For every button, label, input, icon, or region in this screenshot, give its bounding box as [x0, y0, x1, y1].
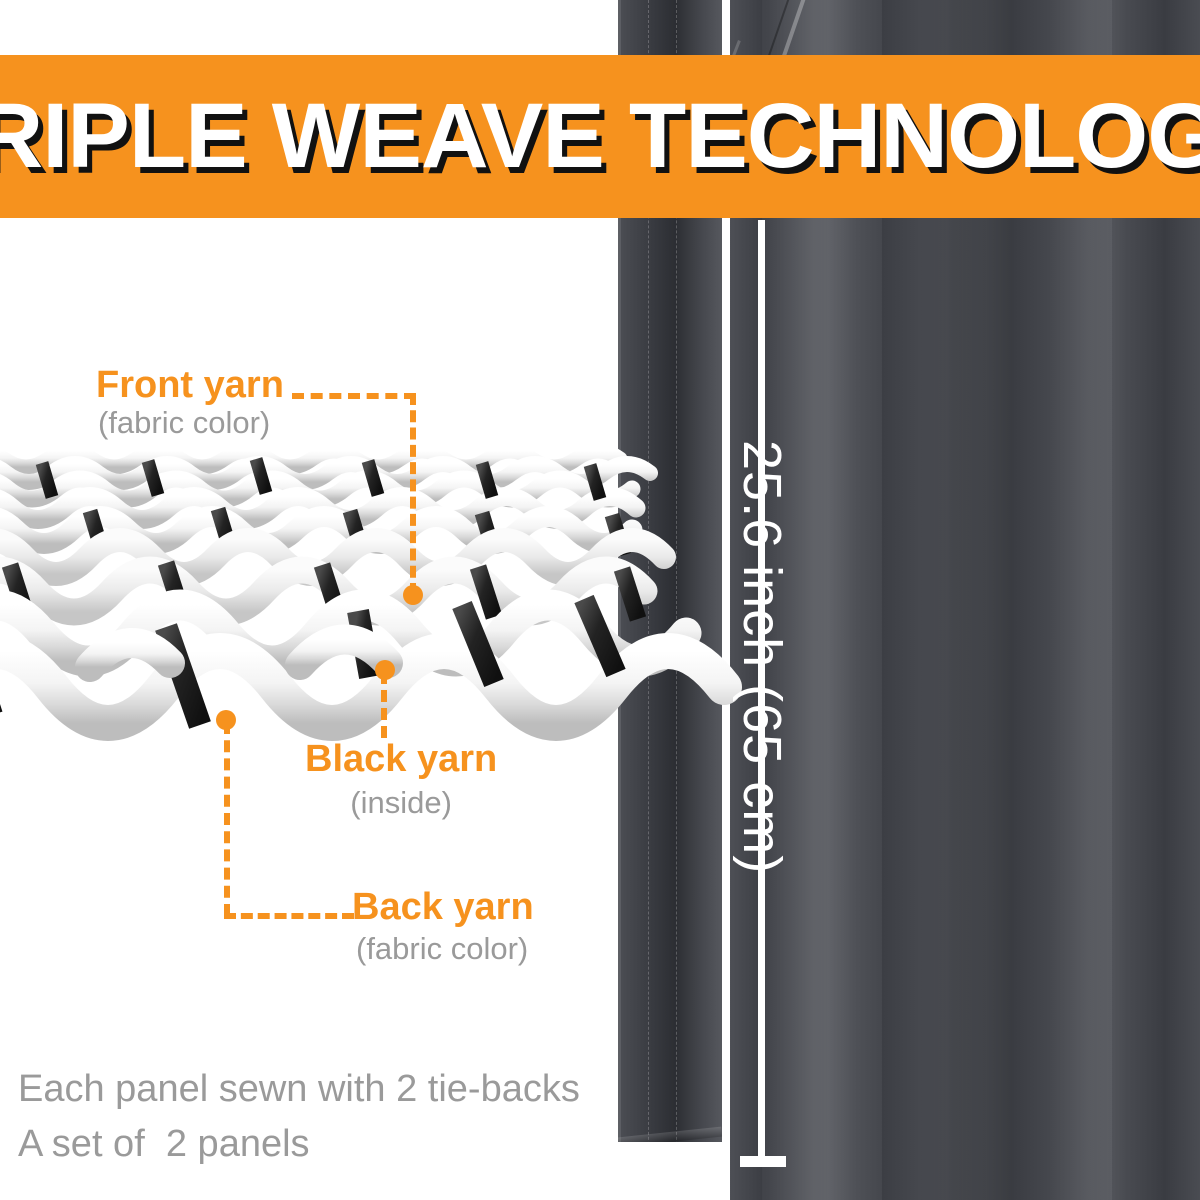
- black-yarn-leader-vertical: [381, 672, 387, 738]
- footer-notes: Each panel sewn with 2 tie-backs A set o…: [18, 1062, 658, 1172]
- callout-black-yarn-title: Black yarn: [305, 740, 497, 778]
- measurement-label: 25.6 inch (65 cm): [731, 440, 793, 874]
- back-yarn-leader-vertical: [224, 722, 230, 916]
- banner-title: TRIPLE WEAVE TECHNOLOGY: [0, 55, 1200, 218]
- callout-back-yarn: Back yarn (fabric color): [352, 888, 534, 969]
- callout-front-yarn-subtitle: (fabric color): [98, 404, 284, 443]
- black-yarn-dot-marker: [375, 660, 395, 680]
- callout-front-yarn-title: Front yarn: [96, 366, 284, 404]
- callout-back-yarn-title: Back yarn: [352, 888, 534, 926]
- mesh-weft-rows: [0, 451, 724, 725]
- triple-weave-mesh-illustration: [0, 415, 670, 760]
- footer-line-2: A set of 2 panels: [18, 1117, 658, 1172]
- callout-black-yarn-subtitle: (inside): [305, 784, 497, 823]
- back-yarn-leader-horizontal: [224, 913, 354, 919]
- footer-line-1: Each panel sewn with 2 tie-backs: [18, 1062, 658, 1117]
- back-yarn-dot-marker: [216, 710, 236, 730]
- callout-black-yarn: Black yarn (inside): [305, 740, 497, 823]
- front-yarn-leader-horizontal: [292, 393, 416, 399]
- dimension-end-cap-icon: [740, 1156, 786, 1167]
- front-yarn-leader-vertical: [410, 393, 416, 595]
- callout-back-yarn-subtitle: (fabric color): [356, 930, 534, 969]
- callout-front-yarn: Front yarn (fabric color): [96, 366, 284, 443]
- front-yarn-dot-marker: [403, 585, 423, 605]
- infographic-canvas: TRIPLE WEAVE TECHNOLOGY Front yarn (fabr…: [0, 0, 1200, 1200]
